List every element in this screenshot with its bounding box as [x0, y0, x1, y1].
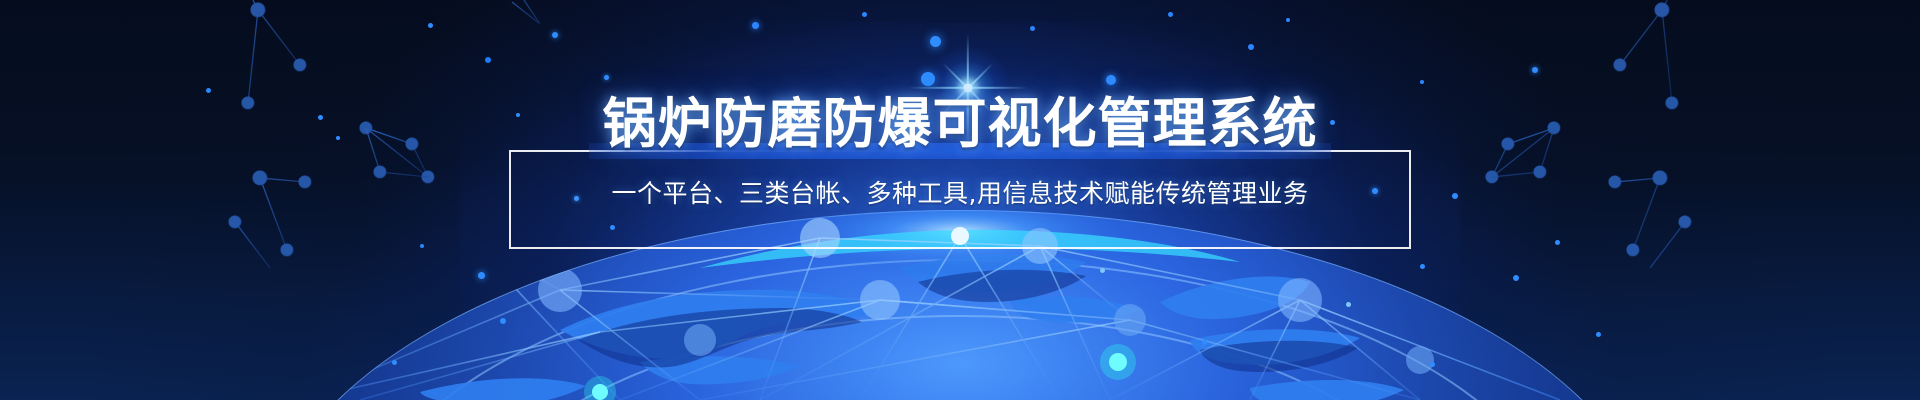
page-title: 锅炉防磨防爆可视化管理系统: [509, 97, 1411, 151]
hero-banner: 锅炉防磨防爆可视化管理系统 一个平台、三类台帐、多种工具,用信息技术赋能传统管理…: [0, 0, 1920, 400]
banner-text-block: 锅炉防磨防爆可视化管理系统 一个平台、三类台帐、多种工具,用信息技术赋能传统管理…: [509, 0, 1411, 400]
page-subtitle: 一个平台、三类台帐、多种工具,用信息技术赋能传统管理业务: [509, 180, 1411, 208]
